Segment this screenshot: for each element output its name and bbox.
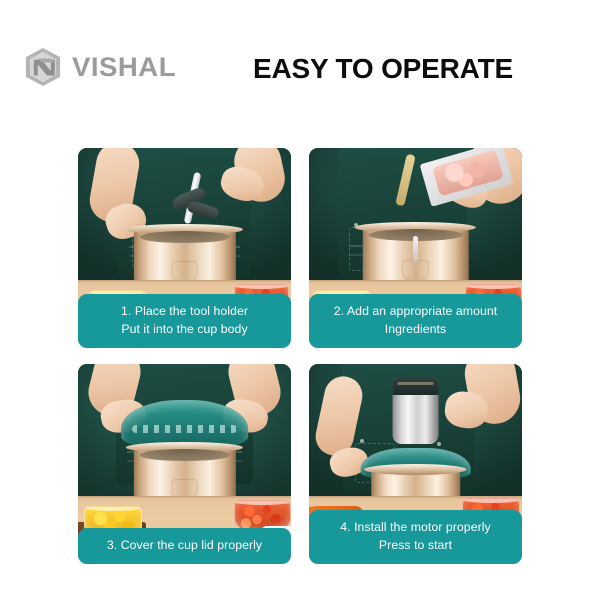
steps-grid: 1. Place the tool holder Put it into the… (78, 148, 522, 564)
hexagon-cube-logo-icon (22, 46, 64, 88)
step-4-caption-line-2: Press to start (315, 536, 516, 555)
step-1-caption-line-2: Put it into the cup body (84, 320, 285, 339)
step-4-caption: 4. Install the motor properly Press to s… (309, 510, 522, 564)
step-3-caption: 3. Cover the cup lid properly (78, 528, 291, 564)
page-title: EASY TO OPERATE (253, 53, 513, 85)
step-3-caption-line-1: 3. Cover the cup lid properly (84, 536, 285, 555)
step-4-caption-line-1: 4. Install the motor properly (315, 518, 516, 537)
step-2-caption-line-1: 2. Add an appropriate amount (315, 302, 516, 321)
step-2-caption-line-2: Ingredients (315, 320, 516, 339)
brand-lockup: VISHAL (22, 46, 175, 88)
infographic-page: VISHAL EASY TO OPERATE (0, 0, 600, 600)
step-panel-1: 1. Place the tool holder Put it into the… (78, 148, 291, 348)
brand-wordmark: VISHAL (72, 52, 176, 83)
step-1-caption: 1. Place the tool holder Put it into the… (78, 294, 291, 348)
step-2-caption: 2. Add an appropriate amount Ingredients (309, 294, 522, 348)
step-panel-2: 2. Add an appropriate amount Ingredients (309, 148, 522, 348)
step-panel-3: 3. Cover the cup lid properly (78, 364, 291, 564)
step-panel-4: 4. Install the motor properly Press to s… (309, 364, 522, 564)
step-1-caption-line-1: 1. Place the tool holder (84, 302, 285, 321)
header: VISHAL EASY TO OPERATE (0, 0, 600, 118)
